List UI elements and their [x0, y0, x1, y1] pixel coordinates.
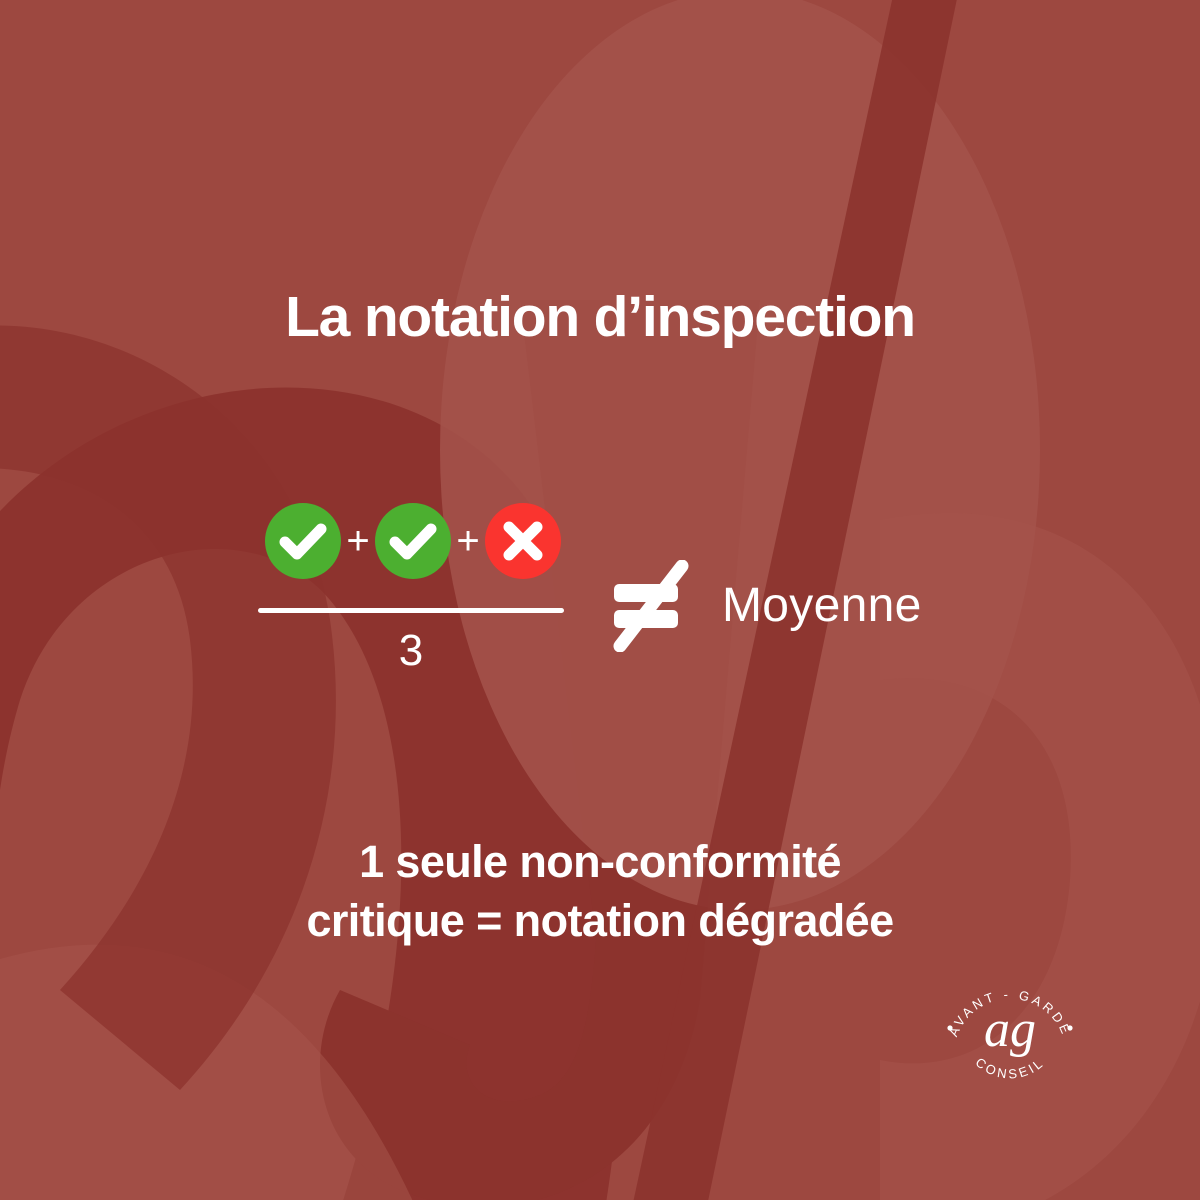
plus-operator-1: +	[341, 521, 375, 561]
statement-line-2: critique = notation dégradée	[0, 891, 1200, 950]
logo-bottom-text: CONSEIL	[973, 1054, 1048, 1081]
statement-text: 1 seule non-conformité critique = notati…	[0, 832, 1200, 951]
logo-dot-right	[1067, 1025, 1072, 1030]
plus-operator-2: +	[451, 521, 485, 561]
brand-logo: AVANT - GARDE CONSEIL ag	[930, 948, 1090, 1108]
logo-monogram: ag	[984, 1001, 1036, 1058]
page-title: La notation d’inspection	[0, 288, 1200, 348]
statement-line-1: 1 seule non-conformité	[0, 832, 1200, 891]
check-circle-icon	[375, 503, 451, 579]
comparison-label: Moyenne	[722, 582, 922, 630]
comparison-group: Moyenne	[604, 560, 922, 652]
fraction-bar	[258, 608, 564, 613]
check-circle-icon	[265, 503, 341, 579]
fraction: + + 3	[258, 498, 568, 673]
logo-dot-left	[947, 1025, 952, 1030]
formula-block: + + 3	[0, 498, 1200, 698]
svg-text:CONSEIL: CONSEIL	[973, 1054, 1048, 1081]
poster-canvas: La notation d’inspection + +	[0, 0, 1200, 1200]
fraction-numerator: + +	[258, 498, 568, 584]
not-equal-icon	[604, 560, 696, 652]
cross-circle-icon	[485, 503, 561, 579]
fraction-denominator: 3	[258, 629, 564, 673]
